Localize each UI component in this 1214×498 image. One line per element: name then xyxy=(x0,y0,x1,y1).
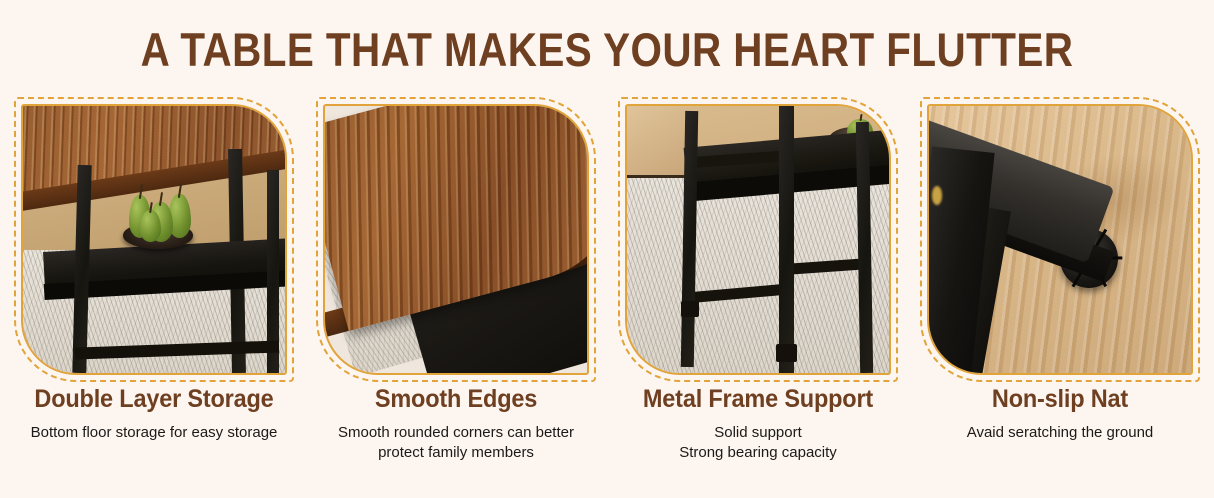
caption-double-layer-storage: Double Layer Storage Bottom floor storag… xyxy=(14,386,294,463)
feature-image-frame-4 xyxy=(927,104,1193,375)
feature-panel-metal-frame-support xyxy=(618,97,898,382)
feature-image-frame-3 xyxy=(625,104,891,375)
caption-non-slip-nat: Non-slip Nat Avaid seratching the ground xyxy=(920,386,1200,463)
caption-smooth-edges: Smooth Edges Smooth rounded corners can … xyxy=(316,386,596,463)
feature-panel-non-slip-nat xyxy=(920,97,1200,382)
feature-description: Solid support Strong bearing capacity xyxy=(618,423,898,463)
feature-panel-smooth-edges xyxy=(316,97,596,382)
pear-icon xyxy=(140,210,161,242)
highlight-spot xyxy=(932,186,942,205)
feature-image-2 xyxy=(325,106,587,373)
feature-title: Metal Frame Support xyxy=(626,386,889,414)
feature-image-frame-1 xyxy=(21,104,287,375)
page-title: A TABLE THAT MAKES YOUR HEART FLUTTER xyxy=(85,26,1129,73)
feature-image-frame-2 xyxy=(323,104,589,375)
caption-metal-frame-support: Metal Frame Support Solid support Strong… xyxy=(618,386,898,463)
rug-texture xyxy=(627,178,889,373)
feature-image-row xyxy=(14,97,1200,382)
side-furniture xyxy=(627,106,685,186)
feature-description: Bottom floor storage for easy storage xyxy=(14,423,294,443)
feature-title: Non-slip Nat xyxy=(928,386,1191,414)
leg-foot-left xyxy=(681,301,699,317)
feature-image-1 xyxy=(23,106,285,373)
feature-description-line1: Solid support xyxy=(714,424,802,441)
feature-panel-double-layer-storage xyxy=(14,97,294,382)
leg-foot-center xyxy=(776,344,797,363)
feature-description: Smooth rounded corners can better protec… xyxy=(316,423,596,463)
feature-description: Avaid seratching the ground xyxy=(920,423,1200,443)
feature-description-line2: Strong bearing capacity xyxy=(679,444,837,461)
feature-caption-row: Double Layer Storage Bottom floor storag… xyxy=(14,386,1200,463)
feature-title: Smooth Edges xyxy=(324,386,587,414)
feature-image-4 xyxy=(929,106,1191,373)
metal-leg-center xyxy=(779,106,794,373)
feature-image-3 xyxy=(627,106,889,373)
feature-title: Double Layer Storage xyxy=(22,386,285,414)
